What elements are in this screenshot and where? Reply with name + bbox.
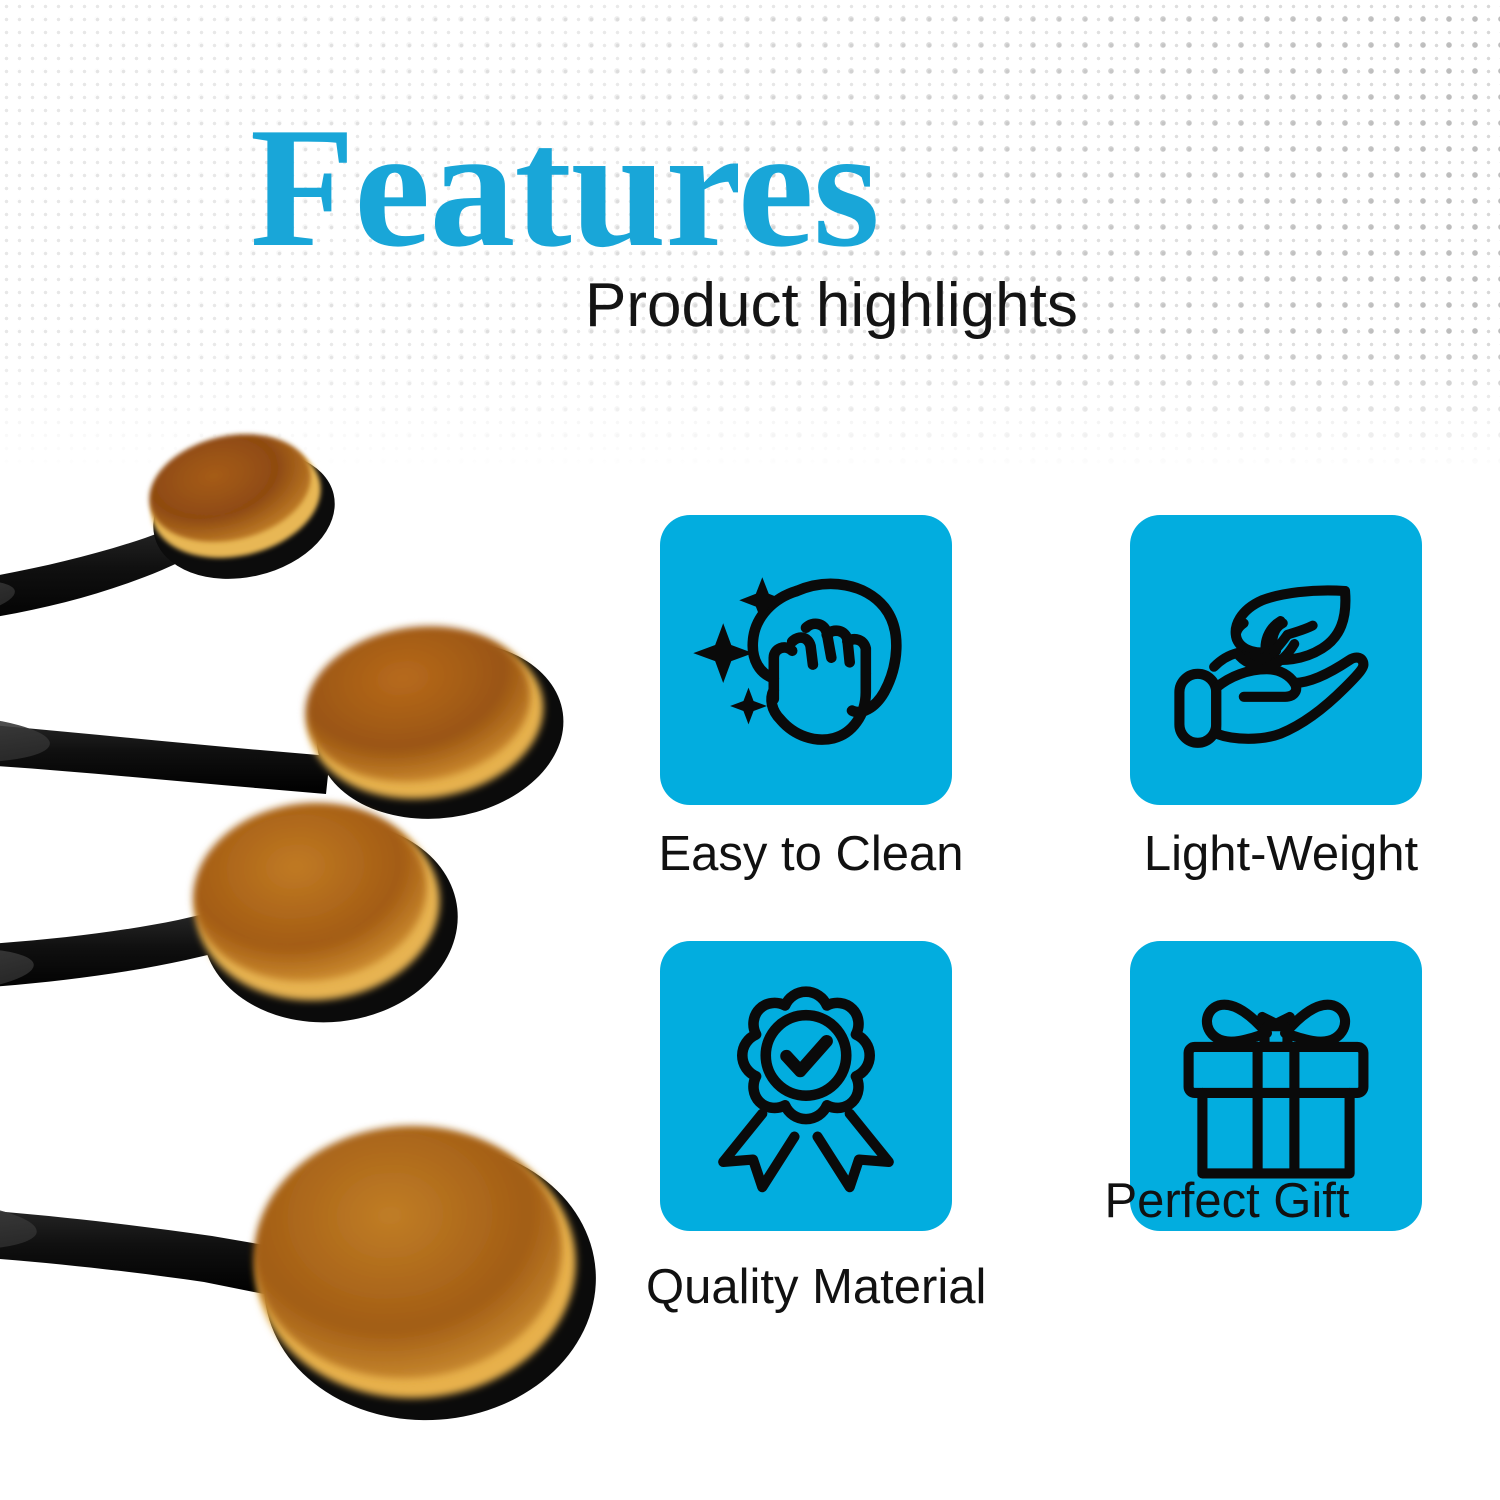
infographic-canvas: Features Product highlights bbox=[0, 0, 1500, 1500]
feature-label: Light-Weight bbox=[1116, 830, 1446, 879]
brush-2 bbox=[0, 612, 575, 834]
brush-1 bbox=[0, 420, 348, 642]
feature-item-light-weight[interactable]: Light-Weight bbox=[1130, 515, 1430, 805]
award-badge-check-icon bbox=[691, 971, 921, 1201]
feature-grid: Easy to Clean bbox=[660, 515, 1460, 1305]
feature-label: Easy to Clean bbox=[646, 830, 976, 879]
feature-icon-tile bbox=[660, 515, 952, 805]
feature-label: Perfect Gift bbox=[1062, 1177, 1392, 1226]
feature-icon-tile bbox=[1130, 515, 1422, 805]
gift-box-icon bbox=[1161, 971, 1391, 1201]
brush-4 bbox=[0, 1116, 605, 1432]
page-subtitle: Product highlights bbox=[585, 275, 1078, 337]
feature-item-perfect-gift[interactable]: Perfect Gift bbox=[1130, 941, 1430, 1231]
feature-item-quality-material[interactable]: Quality Material bbox=[660, 941, 960, 1231]
feature-label: Quality Material bbox=[646, 1263, 976, 1312]
brush-3 bbox=[0, 791, 468, 1035]
feather-on-hand-icon bbox=[1161, 545, 1391, 775]
feature-icon-tile bbox=[660, 941, 952, 1231]
product-brush-illustration bbox=[0, 420, 630, 1500]
hand-wiping-sparkle-icon bbox=[691, 545, 921, 775]
page-title: Features bbox=[250, 102, 1010, 274]
feature-item-easy-to-clean[interactable]: Easy to Clean bbox=[660, 515, 960, 805]
